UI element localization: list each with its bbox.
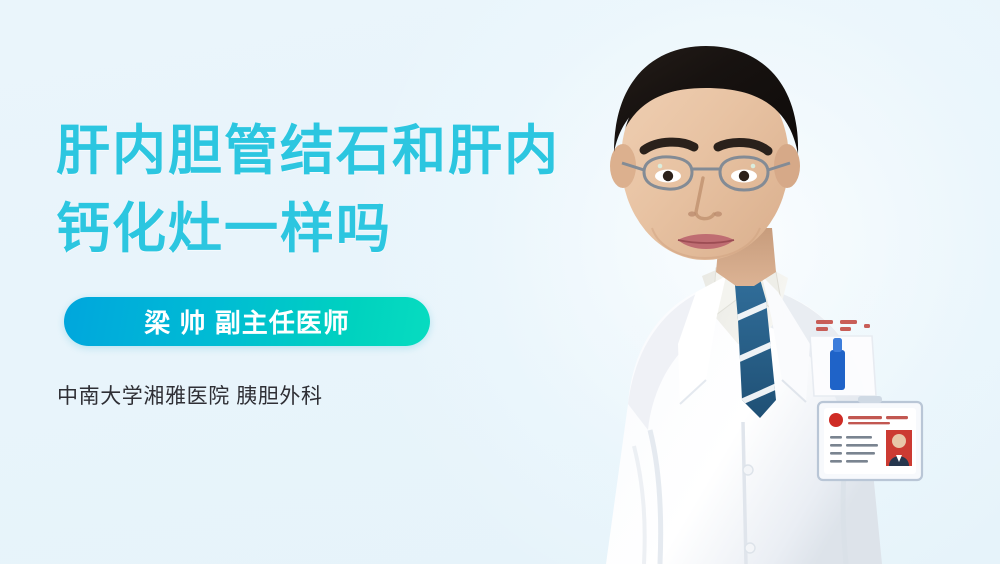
coat-button	[745, 543, 755, 553]
doctor-name-badge: 梁 帅 副主任医师	[64, 297, 430, 346]
thumbnail-canvas: 肝内胆管结石和肝内 钙化灶一样吗 梁 帅 副主任医师 中南大学湘雅医院 胰胆外科	[0, 0, 1000, 564]
head	[610, 46, 800, 260]
title-line-2: 钙化灶一样吗	[56, 190, 616, 268]
badge-emblem-icon	[829, 413, 843, 427]
title-block: 肝内胆管结石和肝内 钙化灶一样吗	[56, 112, 616, 268]
doctor-affiliation: 中南大学湘雅医院 胰胆外科	[57, 380, 323, 410]
coat-button	[743, 465, 753, 475]
title-line-1: 肝内胆管结石和肝内	[56, 112, 616, 190]
doctor-name-rank-label: 梁 帅 副主任医师	[144, 303, 349, 340]
doctor-portrait-image	[510, 0, 1000, 564]
id-badge	[818, 396, 922, 480]
